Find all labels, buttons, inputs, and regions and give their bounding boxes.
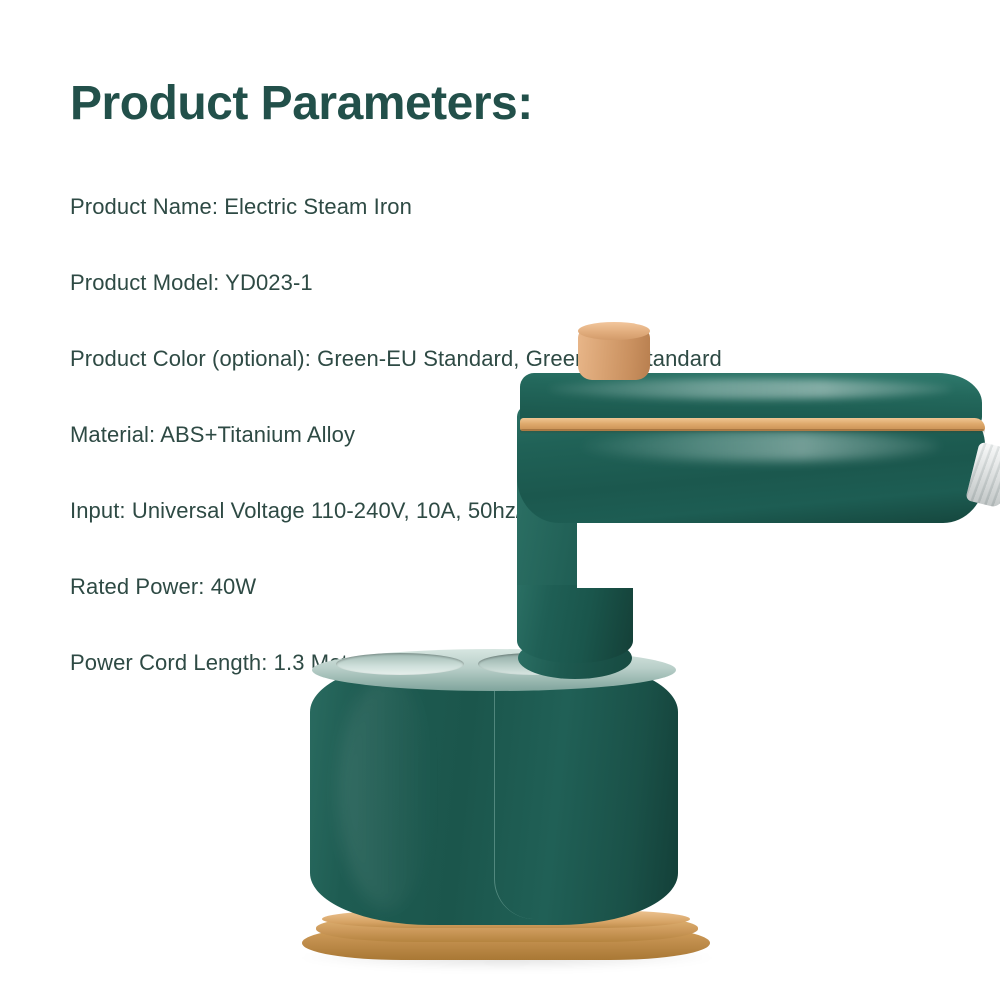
base-seam-line [494,667,556,919]
spec-line-product-model: Product Model: YD023-1 [70,270,950,296]
gold-accent-stripe-shadow [520,429,985,434]
handle-bar-highlight [580,431,940,461]
spec-line-product-color: Product Color (optional): Green-EU Stand… [70,346,950,372]
product-parameters-page: Product Parameters: Product Name: Electr… [0,0,1000,1000]
product-image-steam-iron [280,555,1000,985]
handle-top-cap-highlight [548,379,952,399]
spec-line-product-name: Product Name: Electric Steam Iron [70,194,950,220]
page-title: Product Parameters: [70,76,533,131]
gold-knob-top [578,322,650,340]
water-tank-window [336,653,464,675]
